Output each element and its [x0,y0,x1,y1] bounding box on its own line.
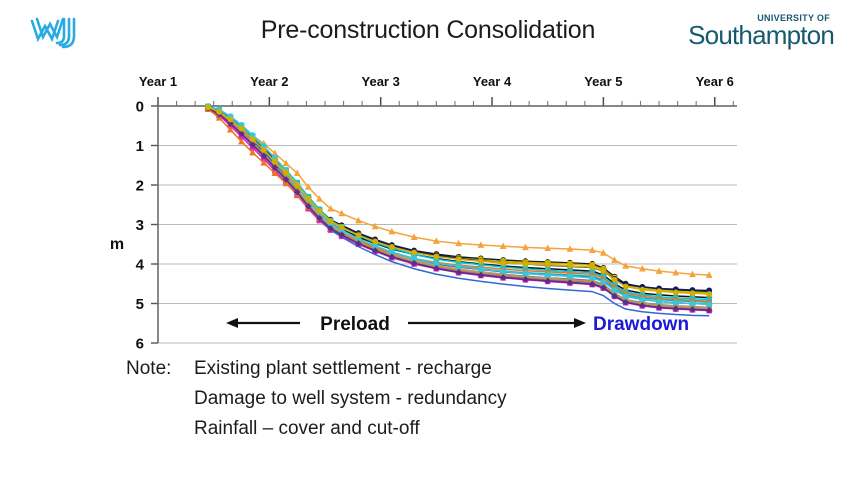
series-marker [523,262,528,267]
series-marker [478,259,483,264]
data-series [205,105,712,312]
series-marker [389,245,394,250]
x-axis-tick-label: Year 3 [362,74,400,89]
x-axis-tick-label: Year 5 [584,74,622,89]
university-of-southampton-logo: UNIVERSITY OF Southampton [686,13,834,53]
preload-arrow-left-head [226,318,238,328]
data-series-layer [205,104,712,316]
series-marker [328,219,333,224]
series-line [208,107,709,307]
series-marker [434,254,439,259]
series-marker [228,117,233,122]
y-axis-tick-label: 3 [136,217,144,234]
y-axis-label: m [110,236,124,253]
series-marker [612,257,618,263]
series-marker [545,273,550,278]
y-axis-ticks [151,106,158,343]
series-marker [690,291,695,296]
series-marker [612,288,617,293]
preload-label: Preload [320,314,390,335]
series-marker [523,271,528,276]
x-axis-tick-label: Year 2 [250,74,288,89]
y-axis-tick-label: 4 [136,257,145,274]
series-marker [456,264,461,269]
note-label: Note: [126,358,194,380]
note-text-2: Damage to well system - redundancy [194,388,726,410]
series-marker [306,196,311,201]
series-marker [707,302,712,307]
series-marker [601,279,606,284]
x-axis-tick-label: Year 1 [139,74,177,89]
series-marker [373,239,378,244]
data-series [206,105,712,311]
series-marker [673,290,678,295]
series-marker [206,105,211,110]
series-line [208,107,709,316]
x-axis-ticks [158,97,733,106]
series-marker [501,260,506,265]
series-marker [317,209,322,214]
note-row: Rainfall – cover and cut-off [126,418,726,448]
series-marker [412,250,417,255]
series-marker [657,299,662,304]
series-marker [272,159,277,164]
series-marker [590,275,595,280]
slide-header: Pre-construction Consolidation UNIVERSIT… [0,0,856,62]
x-axis-tick-label: Year 6 [696,74,734,89]
series-marker [640,287,645,292]
series-marker [239,126,244,131]
data-series [206,106,712,313]
data-series [206,105,712,311]
series-marker [478,267,483,272]
series-marker [673,300,678,305]
series-marker [657,289,662,294]
drawdown-label: Drawdown [593,314,689,335]
y-axis-tick-label: 6 [136,336,144,353]
y-axis-tick-label: 5 [136,296,144,313]
y-axis-tick-label: 0 [136,99,144,116]
preload-arrow-right-head [574,318,586,328]
series-marker [456,257,461,262]
series-marker [623,284,628,289]
y-axis-tick-labels: 0123456 [136,99,145,353]
series-marker [590,265,595,270]
note-text-3: Rainfall – cover and cut-off [194,418,726,440]
series-marker [250,137,255,142]
series-marker [640,297,645,302]
phase-annotation: Preload Drawdown [226,314,689,335]
y-axis-tick-label: 1 [136,138,144,155]
series-marker [690,301,695,306]
series-marker [295,182,300,187]
data-series [206,105,712,307]
series-marker [601,269,606,274]
note-row: Note: Existing plant settlement - rechar… [126,358,726,388]
series-marker [567,274,572,279]
series-marker [434,261,439,266]
data-series [208,107,709,316]
note-row: Damage to well system - redundancy [126,388,726,418]
series-line [208,108,709,310]
chart-canvas: Year 1Year 2Year 3Year 4Year 5Year 6 012… [0,62,856,352]
series-marker [623,294,628,299]
series-marker [612,277,617,282]
series-marker [284,170,289,175]
series-marker [261,147,266,152]
series-marker [501,269,506,274]
university-logo-line2: Southampton [688,20,834,50]
notes-block: Note: Existing plant settlement - rechar… [126,358,726,448]
series-marker [707,292,712,297]
data-series [206,104,712,307]
data-series [205,104,712,278]
series-marker [339,225,344,230]
settlement-chart: Year 1Year 2Year 3Year 4Year 5Year 6 012… [0,62,856,352]
note-text-1: Existing plant settlement - recharge [194,358,726,380]
series-marker [356,233,361,238]
series-marker [217,109,222,114]
series-line [208,108,709,310]
series-marker [545,262,550,267]
x-axis-tick-label: Year 4 [473,74,512,89]
data-series [205,105,712,313]
x-axis-tick-labels: Year 1Year 2Year 3Year 4Year 5Year 6 [139,74,734,89]
series-marker [567,263,572,268]
y-axis-tick-label: 2 [136,178,144,195]
data-series [206,105,712,310]
series-line [208,107,709,275]
